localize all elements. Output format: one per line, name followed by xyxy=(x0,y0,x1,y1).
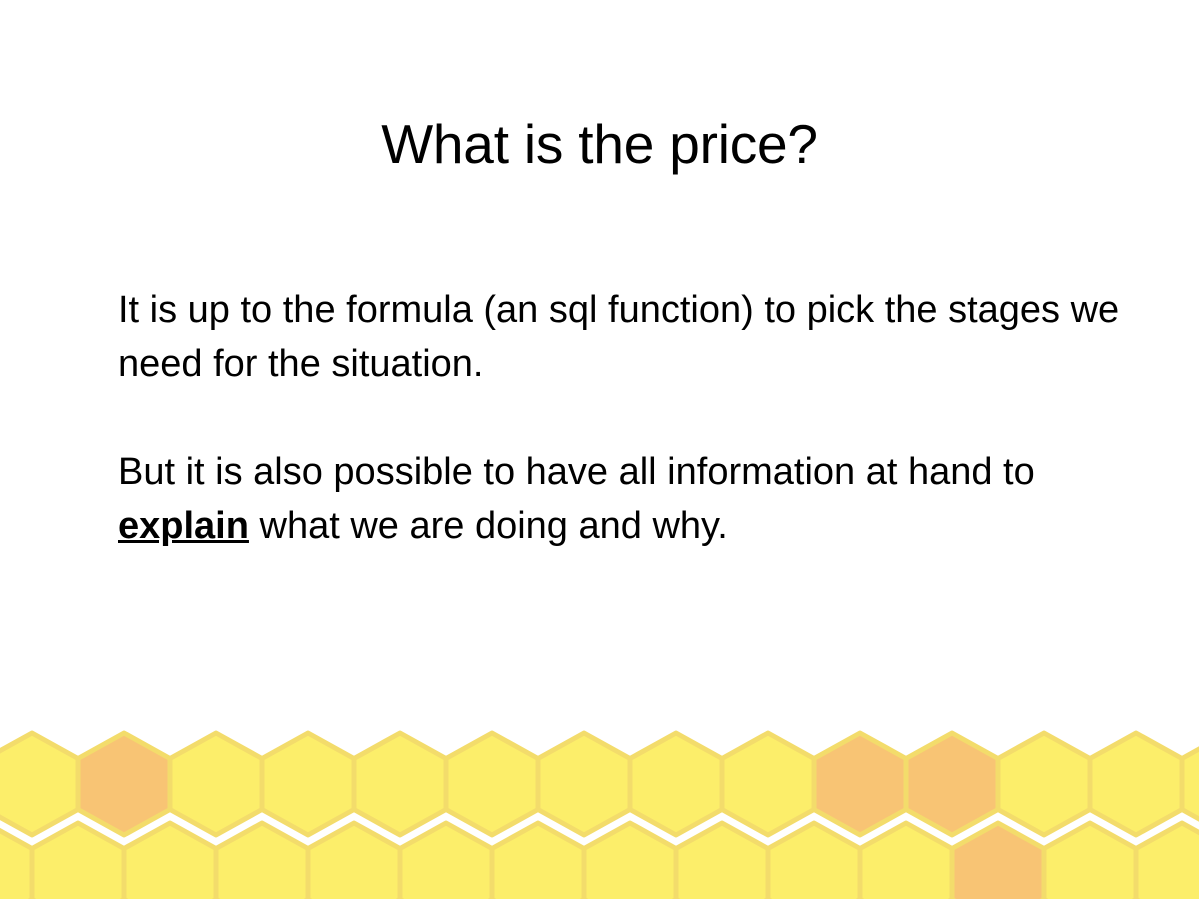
emphasized-word-explain: explain xyxy=(118,505,249,547)
honeycomb-cell-yellow xyxy=(1090,733,1182,835)
slide-body-text: It is up to the formula (an sql function… xyxy=(118,283,1128,553)
honeycomb-decoration xyxy=(0,719,1199,899)
honeycomb-cell-yellow xyxy=(0,733,78,835)
honeycomb-cell-yellow xyxy=(354,733,446,835)
body-paragraph-2: But it is also possible to have all info… xyxy=(118,445,1128,553)
honeycomb-cell-yellow xyxy=(630,733,722,835)
slide-canvas: What is the price? It is up to the formu… xyxy=(0,0,1199,899)
honeycomb-cell-yellow xyxy=(170,733,262,835)
honeycomb-cell-yellow xyxy=(584,823,676,899)
honeycomb-cell-yellow xyxy=(722,733,814,835)
honeycomb-cell-yellow xyxy=(0,823,32,899)
honeycomb-cell-yellow xyxy=(1182,733,1199,835)
honeycomb-cell-yellow xyxy=(446,733,538,835)
honeycomb-cell-yellow xyxy=(1136,823,1199,899)
paragraph-spacer xyxy=(118,391,1128,445)
honeycomb-cell-yellow xyxy=(124,823,216,899)
paragraph-2-trail-text: what we are doing and why. xyxy=(249,505,728,547)
honeycomb-cell-yellow xyxy=(998,733,1090,835)
honeycomb-cell-orange xyxy=(952,823,1044,899)
honeycomb-cell-yellow xyxy=(768,823,860,899)
body-paragraph-1: It is up to the formula (an sql function… xyxy=(118,283,1128,391)
paragraph-2-lead-text: But it is also possible to have all info… xyxy=(118,451,1035,493)
honeycomb-cell-yellow xyxy=(676,823,768,899)
honeycomb-cell-yellow xyxy=(1044,823,1136,899)
honeycomb-cell-yellow xyxy=(538,733,630,835)
honeycomb-cell-yellow xyxy=(308,823,400,899)
honeycomb-cell-yellow xyxy=(860,823,952,899)
honeycomb-cell-orange xyxy=(814,733,906,835)
honeycomb-cell-orange xyxy=(906,733,998,835)
honeycomb-cell-yellow xyxy=(262,733,354,835)
honeycomb-svg xyxy=(0,719,1199,899)
honeycomb-cell-yellow xyxy=(400,823,492,899)
honeycomb-cell-yellow xyxy=(216,823,308,899)
page-title: What is the price? xyxy=(0,111,1199,177)
honeycomb-cell-orange xyxy=(78,733,170,835)
honeycomb-cell-yellow xyxy=(32,823,124,899)
honeycomb-cell-yellow xyxy=(492,823,584,899)
